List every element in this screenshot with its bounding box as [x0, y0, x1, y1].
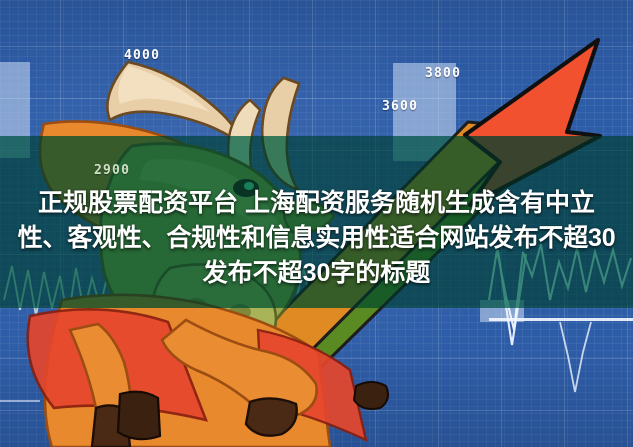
- headline-line-1: 正规股票配资平台 上海配资服务随机生成含有中立: [0, 186, 633, 221]
- axis-tick-3600: 3600: [382, 99, 418, 114]
- axis-tick-4000: 4000: [124, 48, 160, 63]
- headline-line-2: 性、客观性、合规性和信息实用性适合网站发布不超30: [0, 221, 633, 256]
- banner-image: 4000 3800 3600 2900 正规股票配资平台 上海配资服务随机生成含…: [0, 0, 633, 447]
- headline-line-3: 发布不超30字的标题: [0, 256, 633, 291]
- axis-tick-2900: 2900: [94, 163, 130, 178]
- headline-text: 正规股票配资平台 上海配资服务随机生成含有中立 性、客观性、合规性和信息实用性适…: [0, 186, 633, 291]
- axis-tick-3800: 3800: [425, 66, 461, 81]
